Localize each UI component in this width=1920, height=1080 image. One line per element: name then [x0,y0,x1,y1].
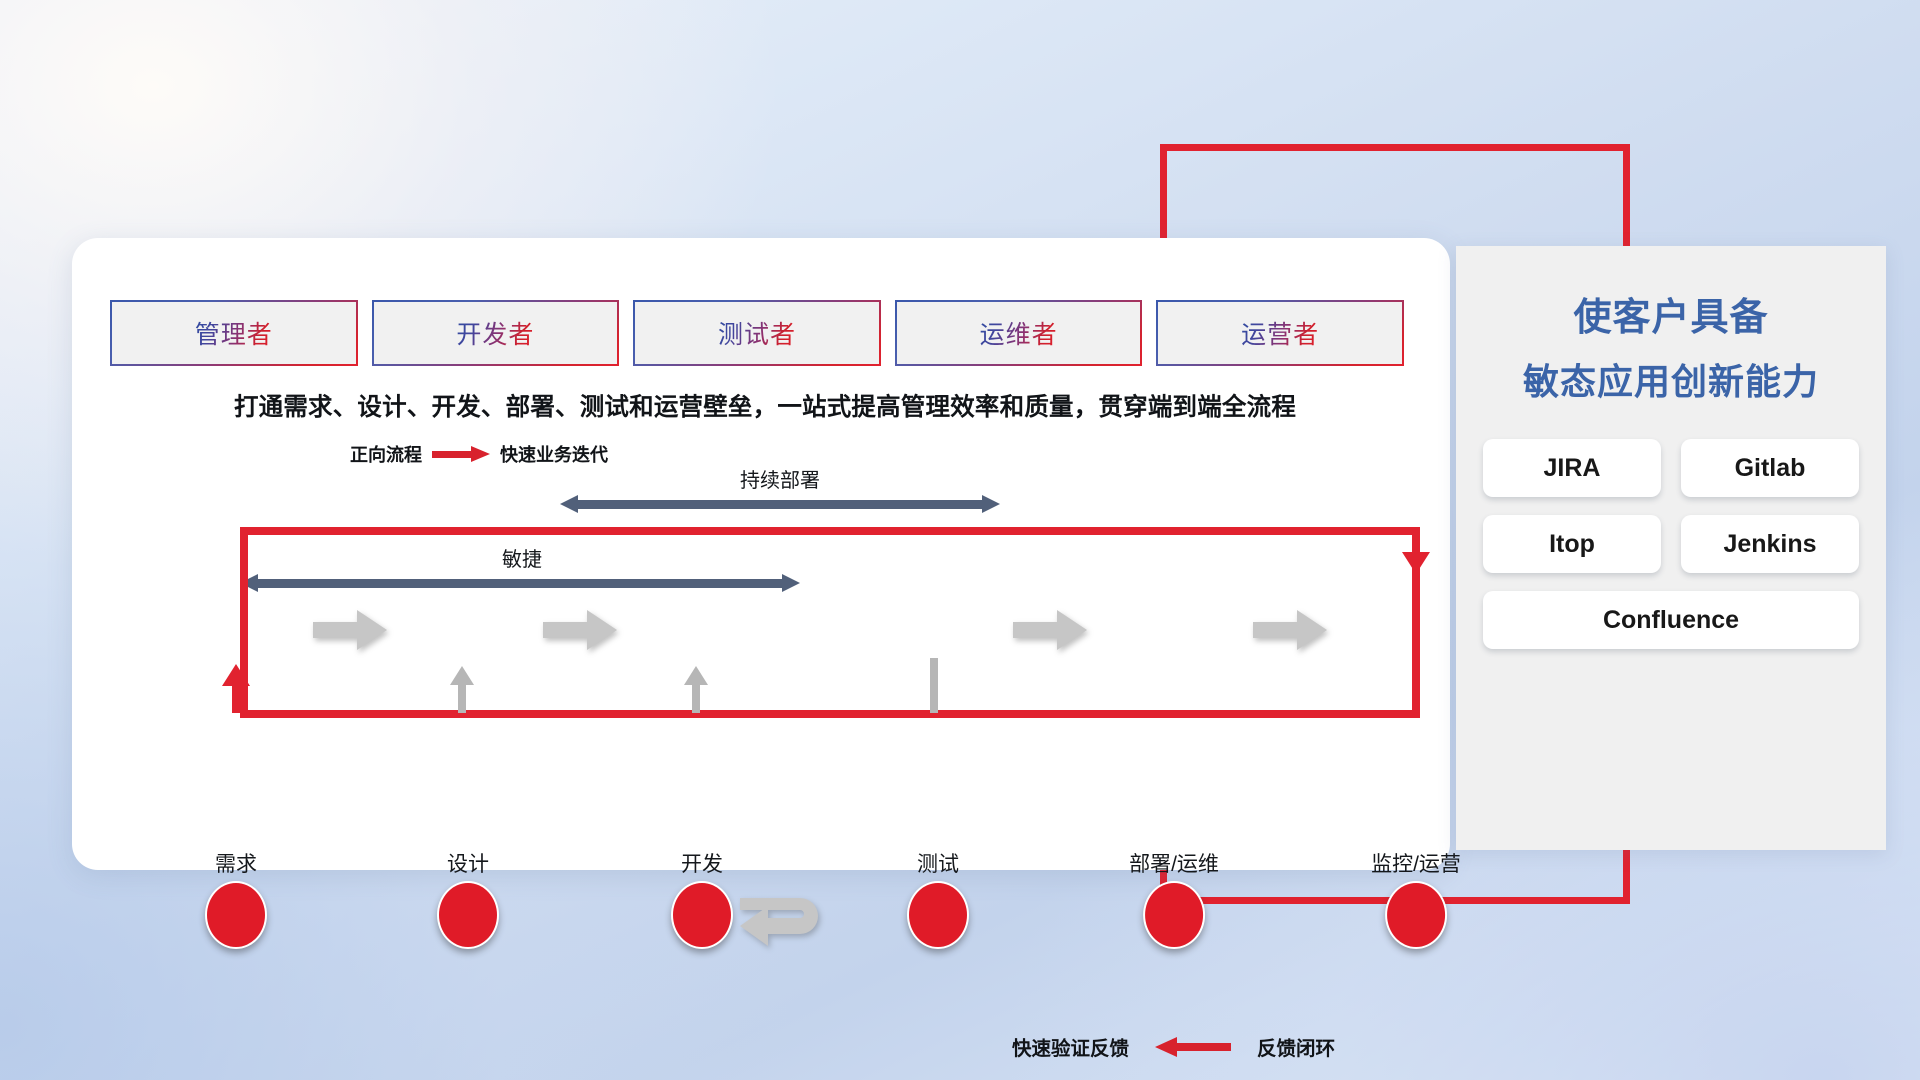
stage-label: 部署/运维 [1129,848,1219,878]
feedback-loop-down-arrowhead-icon [1402,552,1430,574]
flow-arrow-testing-to-deploy [1013,610,1087,650]
value-proposition-panel: 使客户具备 敏态应用创新能力 JIRA Gitlab Itop Jenkins … [1456,246,1886,850]
stage-dot-icon [205,881,267,949]
stage-dot-icon [437,881,499,949]
stage-design[interactable]: 设计 [437,848,499,949]
panel-title-line-2: 敏态应用创新能力 [1480,355,1862,409]
feedback-left-label: 快速验证反馈 [1012,1032,1129,1061]
flow-arrow-design-to-development [543,610,617,650]
tool-chip-itop[interactable]: Itop [1483,515,1661,573]
stage-deploy-ops[interactable]: 部署/运维 [1129,848,1219,949]
continuous-deployment-label: 持续部署 [740,464,820,493]
feedback-loop-top-line [240,527,1420,535]
tool-chip-list: JIRA Gitlab Itop Jenkins Confluence [1480,439,1862,649]
requirement-red-riser [232,685,240,713]
main-content-card: 管理者 开发者 测试者 运维者 运营者 打通需求、设计、开发、部署、测试和运营壁… [72,238,1450,870]
feedback-legend: 快速验证反馈 反馈闭环 [1012,1032,1335,1061]
stage-requirement[interactable]: 需求 [205,848,267,949]
tool-chip-confluence[interactable]: Confluence [1483,591,1859,649]
agile-arrow [240,574,800,592]
design-gray-riser [458,685,466,713]
stage-dot-icon [1143,881,1205,949]
stage-label: 设计 [437,848,499,878]
iteration-loopback-icon [738,894,834,958]
feedback-loop-up-arrowhead-icon [222,664,250,686]
testing-gray-riser [930,658,938,713]
agile-label: 敏捷 [502,543,542,572]
outer-bracket-top [1160,144,1630,151]
tool-chip-jenkins[interactable]: Jenkins [1681,515,1859,573]
flow-arrow-deploy-to-monitoring [1253,610,1327,650]
monitoring-red-riser [1412,663,1420,715]
stage-label: 测试 [907,848,969,878]
stage-testing[interactable]: 测试 [907,848,969,949]
feedback-right-label: 反馈闭环 [1257,1032,1335,1061]
stage-monitoring-operations[interactable]: 监控/运营 [1371,848,1461,949]
stage-label: 需求 [205,848,267,878]
panel-title-line-1: 使客户具备 [1480,290,1862,347]
development-gray-arrowhead-icon [684,666,708,685]
stage-label: 开发 [671,848,733,878]
feedback-loop-bottom-line [240,710,1420,718]
slide-canvas: 管理者 开发者 测试者 运维者 运营者 打通需求、设计、开发、部署、测试和运营壁… [0,0,1920,1080]
pipeline-area: 持续部署 敏捷 [72,238,1450,870]
stage-dot-icon [671,881,733,949]
stage-label: 监控/运营 [1371,848,1461,878]
stage-dot-icon [907,881,969,949]
design-gray-arrowhead-icon [450,666,474,685]
continuous-deployment-arrow [560,495,1000,513]
development-gray-riser [692,685,700,713]
feedback-loop-left-line [240,527,248,718]
flow-arrow-requirement-to-design [313,610,387,650]
tool-chip-jira[interactable]: JIRA [1483,439,1661,497]
stage-dot-icon [1385,881,1447,949]
red-left-arrow-icon [1155,1040,1231,1054]
stage-development[interactable]: 开发 [671,848,733,949]
tool-chip-gitlab[interactable]: Gitlab [1681,439,1859,497]
